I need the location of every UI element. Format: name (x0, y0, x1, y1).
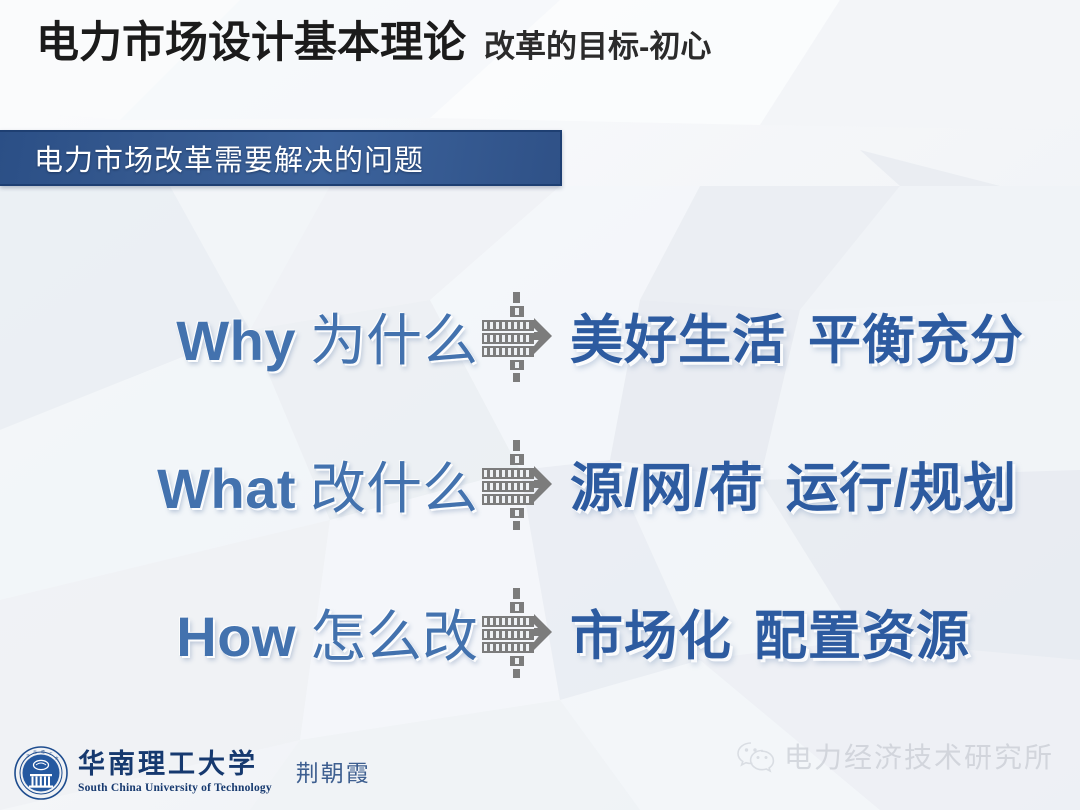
qa-row: Why为什么 (0, 262, 1080, 410)
answer-part-a: 美好生活 (570, 311, 786, 370)
university-name-cn: 华南理工大学 (78, 751, 272, 778)
question-text: What改什么 (157, 444, 478, 525)
answer-text: 美好生活平衡充分 (570, 298, 1024, 374)
university-name-block: 华南理工大学 South China University of Technol… (78, 751, 272, 795)
question-text: How怎么改 (176, 592, 478, 673)
answer-part-b: 运行/规划 (785, 459, 1017, 518)
university-seal-icon: 华南 理工大 (14, 746, 68, 800)
presentation-slide: 电力市场设计基本理论 改革的目标-初心 电力市场改革需要解决的问题 Why为什么 (0, 0, 1080, 810)
slide-header: 电力市场设计基本理论 改革的目标-初心 (36, 22, 711, 65)
striped-right-arrow-icon (480, 290, 556, 382)
question-text: Why为什么 (176, 296, 478, 377)
qa-row: What改什么 (0, 410, 1080, 558)
answer-part-b: 配置资源 (754, 607, 970, 666)
university-branding: 华南 理工大 华南理工大学 South China University of … (14, 746, 371, 800)
svg-text:理: 理 (41, 749, 45, 754)
section-banner: 电力市场改革需要解决的问题 (0, 130, 562, 186)
question-en: What (157, 457, 296, 520)
answer-text: 源/网/荷运行/规划 (570, 446, 1017, 522)
striped-right-arrow-icon (480, 438, 556, 530)
wechat-icon (736, 739, 776, 773)
answer-part-b: 平衡充分 (808, 311, 1024, 370)
striped-right-arrow-icon (480, 586, 556, 678)
question-en: How (176, 605, 296, 668)
section-banner-label: 电力市场改革需要解决的问题 (0, 137, 424, 179)
answer-part-a: 源/网/荷 (570, 459, 763, 518)
answer-text: 市场化配置资源 (570, 594, 970, 670)
page-subtitle: 改革的目标-初心 (484, 31, 711, 62)
question-en: Why (176, 309, 296, 372)
svg-text:大: 大 (55, 755, 59, 760)
qa-row: How怎么改 (0, 558, 1080, 706)
university-name-en: South China University of Technology (78, 783, 272, 795)
wechat-watermark-label: 电力经济技术研究所 (784, 736, 1054, 776)
presenter-name: 荆朝霞 (296, 754, 371, 788)
wechat-watermark: 电力经济技术研究所 (736, 736, 1054, 776)
answer-part-a: 市场化 (570, 607, 732, 666)
qa-row-list: Why为什么 (0, 262, 1080, 706)
question-cn: 怎么改 (310, 605, 478, 668)
svg-text:工: 工 (49, 752, 53, 756)
question-cn: 改什么 (310, 457, 478, 520)
question-cn: 为什么 (310, 309, 478, 372)
page-title: 电力市场设计基本理论 (36, 22, 466, 65)
